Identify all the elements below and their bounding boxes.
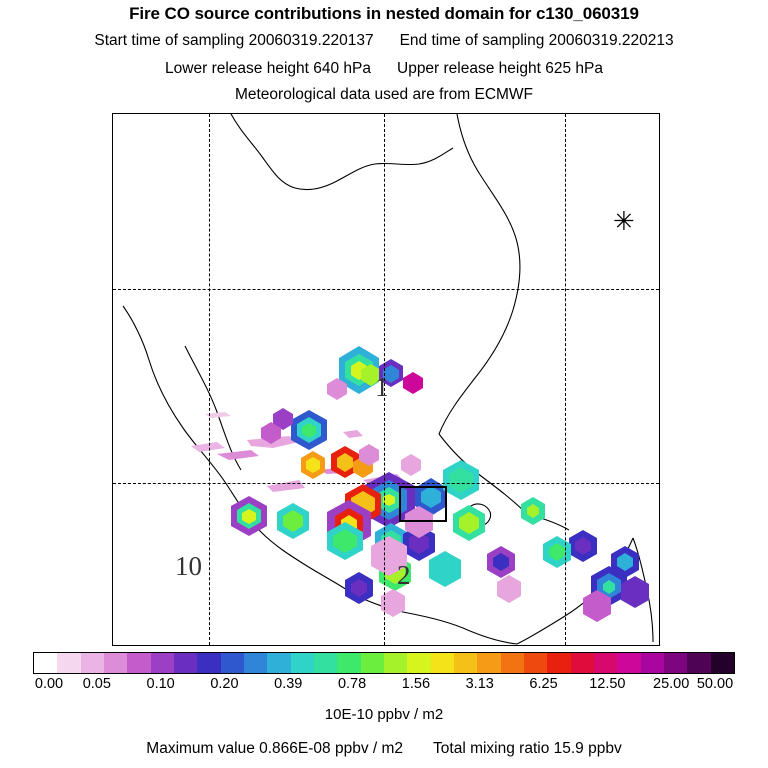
colorbar-segment xyxy=(151,653,174,673)
upper-release-height-label: Upper release height 625 hPa xyxy=(397,60,603,77)
colorbar-segment xyxy=(34,653,57,673)
colorbar-tick: 50.00 xyxy=(697,676,733,692)
colorbar-segment xyxy=(664,653,687,673)
colorbar-segment xyxy=(267,653,290,673)
maximum-value-label: Maximum value 0.866E-08 ppbv / m2 xyxy=(146,740,403,757)
map-label-10: 10 xyxy=(175,551,202,582)
colorbar-segment xyxy=(221,653,244,673)
footer-line: Maximum value 0.866E-08 ppbv / m2Total m… xyxy=(0,740,768,758)
colorbar-segment xyxy=(384,653,407,673)
colorbar-segment xyxy=(174,653,197,673)
colorbar-segment xyxy=(127,653,150,673)
colorbar-tick: 0.00 xyxy=(35,676,63,692)
colorbar-segment xyxy=(477,653,500,673)
sampling-time-line: Start time of sampling 20060319.220137En… xyxy=(0,32,768,50)
colorbar-tick: 0.20 xyxy=(210,676,238,692)
colorbar-tick-labels: 0.000.050.100.200.390.781.563.136.2512.5… xyxy=(0,676,768,692)
colorbar-segment xyxy=(617,653,640,673)
colorbar-segment xyxy=(571,653,594,673)
colorbar-segment xyxy=(407,653,430,673)
colorbar-segment xyxy=(594,653,617,673)
colorbar-tick: 0.39 xyxy=(274,676,302,692)
colorbar-segment xyxy=(524,653,547,673)
colorbar-segment xyxy=(244,653,267,673)
release-height-line: Lower release height 640 hPaUpper releas… xyxy=(0,60,768,78)
colorbar-segment xyxy=(361,653,384,673)
colorbar-segment xyxy=(687,653,710,673)
colorbar-tick: 0.05 xyxy=(83,676,111,692)
gridline-horizontal-2 xyxy=(113,483,659,484)
colorbar-segment xyxy=(641,653,664,673)
colorbar-segment xyxy=(314,653,337,673)
page-title: Fire CO source contributions in nested d… xyxy=(0,4,768,24)
colorbar-segment xyxy=(291,653,314,673)
end-time-label: End time of sampling 20060319.220213 xyxy=(400,32,674,49)
release-location-box xyxy=(399,486,447,522)
colorbar-tick: 1.56 xyxy=(402,676,430,692)
colorbar-segment xyxy=(57,653,80,673)
colorbar-segment xyxy=(547,653,570,673)
colorbar-unit-label: 10E-10 ppbv / m2 xyxy=(0,706,768,723)
colorbar-segment xyxy=(337,653,360,673)
map-label-1: 1 xyxy=(375,372,389,403)
colorbar-segment xyxy=(454,653,477,673)
colorbar-tick: 3.13 xyxy=(466,676,494,692)
gridline-vertical-3 xyxy=(565,114,566,645)
map-label-2: 2 xyxy=(397,560,411,591)
colorbar-segment xyxy=(711,653,734,673)
colorbar-segment xyxy=(81,653,104,673)
colorbar-segment xyxy=(431,653,454,673)
map-plot-area: 10 1 2 ✳ xyxy=(112,113,660,646)
colorbar-segment xyxy=(501,653,524,673)
gridline-vertical-1 xyxy=(209,114,210,645)
colorbar-tick: 0.10 xyxy=(147,676,175,692)
colorbar xyxy=(33,652,735,674)
colorbar-tick: 0.78 xyxy=(338,676,366,692)
colorbar-tick: 12.50 xyxy=(589,676,625,692)
colorbar-segment xyxy=(104,653,127,673)
colorbar-segment xyxy=(197,653,220,673)
figure-root: Fire CO source contributions in nested d… xyxy=(0,0,768,768)
colorbar-tick: 6.25 xyxy=(529,676,557,692)
start-time-label: Start time of sampling 20060319.220137 xyxy=(94,32,373,49)
total-mixing-ratio-label: Total mixing ratio 15.9 ppbv xyxy=(433,740,622,757)
gridline-horizontal-1 xyxy=(113,289,659,290)
star-marker-icon: ✳ xyxy=(613,208,635,234)
met-data-label: Meteorological data used are from ECMWF xyxy=(0,86,768,104)
colorbar-tick: 25.00 xyxy=(653,676,689,692)
lower-release-height-label: Lower release height 640 hPa xyxy=(165,60,371,77)
